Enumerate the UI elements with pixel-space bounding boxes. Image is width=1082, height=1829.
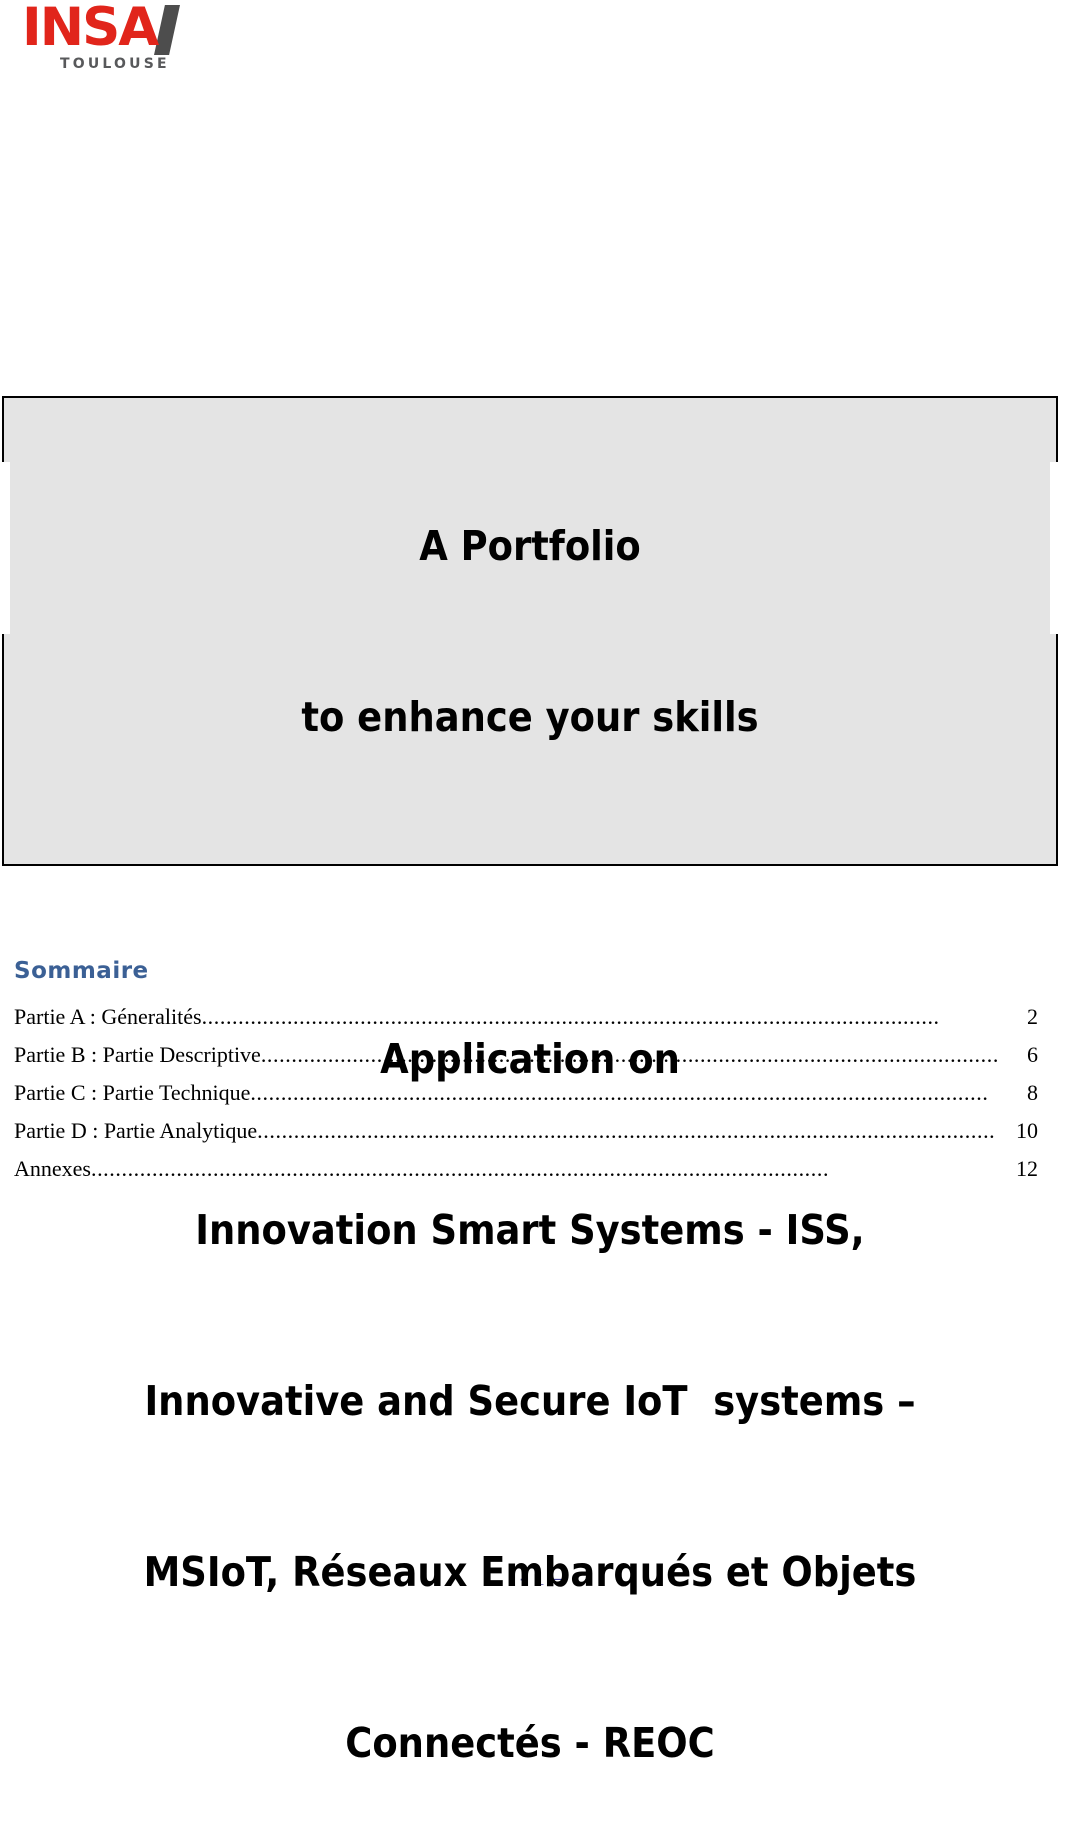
title-line-1: A Portfolio	[2, 518, 1058, 575]
document-title: A Portfolio to enhance your skills Appli…	[2, 396, 1058, 1829]
title-line-6: Innovative and Secure IoT systems –	[2, 1373, 1058, 1430]
logo-toulouse-text: TOULOUSE	[60, 56, 170, 72]
title-line-4: Application on	[2, 1031, 1058, 1088]
title-line-5: Innovation Smart Systems - ISS,	[2, 1202, 1058, 1259]
title-line-blank	[2, 860, 1058, 917]
title-line-7: MSIoT, Réseaux Embarqués et Objets	[2, 1544, 1058, 1601]
title-line-8: Connectés - REOC	[2, 1715, 1058, 1772]
logo-insa-text: INSA	[22, 1, 157, 54]
logo-wordmark-group: INSA	[22, 4, 172, 56]
logo-slash-wedge-icon	[154, 5, 180, 55]
title-line-2: to enhance your skills	[2, 689, 1058, 746]
insa-toulouse-logo: INSA TOULOUSE	[22, 4, 172, 82]
